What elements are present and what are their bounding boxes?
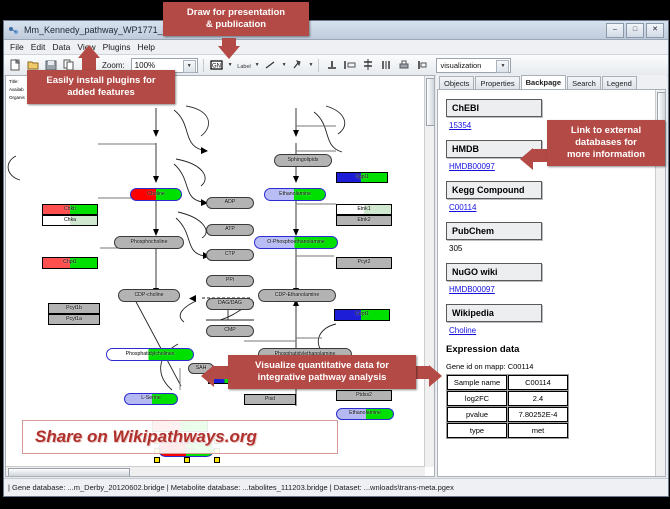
pathway-gene-chpt1[interactable]: Chpt1 xyxy=(42,257,98,269)
align-left-icon[interactable] xyxy=(342,58,357,73)
wikipedia-link[interactable]: Choline xyxy=(449,326,656,335)
pathway-node-sphingolipids[interactable]: Sphingolipids xyxy=(274,154,332,167)
toolbar-separator xyxy=(203,59,204,72)
chevron-down-icon[interactable]: ▼ xyxy=(183,60,196,73)
pathway-node-adp[interactable]: ADP xyxy=(206,197,254,209)
pathway-node-ctp[interactable]: CTP xyxy=(206,249,254,261)
pathway-node-label: ADP xyxy=(225,200,236,205)
status-bar: | Gene database: ...m_Derby_20120602.bri… xyxy=(4,478,668,496)
nugo-wiki-link[interactable]: HMDB00097 xyxy=(449,285,656,294)
callout-links: Link to externaldatabases formore inform… xyxy=(547,120,665,166)
pathway-gene-label: Sgpl1 xyxy=(355,175,368,180)
pathway-node-label: CDP-choline xyxy=(134,293,163,298)
order-icon[interactable] xyxy=(414,58,429,73)
visualization-chevron-down-icon[interactable]: ▼ xyxy=(496,60,509,73)
app-icon xyxy=(8,25,19,36)
pathway-gene-label: Pisd xyxy=(265,397,275,402)
pubchem-header: PubChem xyxy=(446,222,542,240)
line-icon[interactable] xyxy=(263,58,278,73)
status-bar-text: | Gene database: ...m_Derby_20120602.bri… xyxy=(4,483,454,492)
expression-row-value: 2.4 xyxy=(508,391,568,406)
datanode-dropdown-icon[interactable]: ▼ xyxy=(228,62,233,68)
pathway-gene-pisd[interactable]: Pisd xyxy=(244,394,296,405)
pathway-gene-chka[interactable]: Chka xyxy=(42,215,98,226)
menu-file[interactable]: File xyxy=(10,42,24,52)
pathway-canvas[interactable]: Title: Availab Organis xyxy=(5,75,435,477)
share-banner-text: Share on Wikipathways.org xyxy=(35,427,257,446)
selection-handle[interactable] xyxy=(184,457,190,463)
callout-draw: Draw for presentation& publication xyxy=(163,2,309,36)
pathway-gene-label: Chpt1 xyxy=(63,260,77,265)
expression-row-label: pvalue xyxy=(447,407,507,422)
side-panel-tabs: Objects Properties Backpage Search Legen… xyxy=(436,75,667,89)
pathway-gene-label: Ptdss2 xyxy=(356,393,372,398)
callout-plugins-arrow-head xyxy=(78,45,100,58)
callout-links-text: Link to externaldatabases formore inform… xyxy=(567,125,645,160)
pathway-node-label: DAG/DAG xyxy=(218,301,242,306)
new-icon[interactable] xyxy=(7,58,22,73)
label-dropdown-icon[interactable]: ▼ xyxy=(255,62,260,68)
pathway-gene-label: Etnk2 xyxy=(357,218,370,223)
nugo-wiki-header: NuGO wiki xyxy=(446,263,542,281)
expression-row-label: type xyxy=(447,423,507,438)
maximize-button[interactable]: □ xyxy=(626,23,644,38)
callout-visualize: Visualize quantitative data forintegrati… xyxy=(228,355,416,389)
expression-data-table: Sample nameC00114log2FC2.4pvalue7.80252E… xyxy=(446,374,569,439)
table-row: Sample nameC00114 xyxy=(447,375,568,390)
table-row: pvalue7.80252E-4 xyxy=(447,407,568,422)
selection-handle[interactable] xyxy=(214,457,220,463)
callout-draw-text: Draw for presentation& publication xyxy=(187,7,285,30)
pathway-gene-label: Pcyt1b xyxy=(66,306,82,311)
pathway-node-phosphatidylcholines[interactable]: Phosphatidylcholines xyxy=(106,348,194,361)
pathway-node-label: CMP xyxy=(224,328,236,333)
pathway-node-label: PPi xyxy=(226,278,234,283)
pathway-node-label: Sphingolipids xyxy=(288,158,319,163)
tab-legend[interactable]: Legend xyxy=(602,76,637,89)
pathway-node-label: Ethanolamine xyxy=(279,192,311,197)
pathway-gene-chkb[interactable]: Chkb xyxy=(42,204,98,215)
expression-row-value: met xyxy=(508,423,568,438)
label-icon[interactable]: Label xyxy=(236,58,251,73)
callout-visualize-arrow-stem-right xyxy=(414,366,430,379)
pathway-node-ppi[interactable]: PPi xyxy=(206,275,254,287)
kegg-compound-link[interactable]: C00114 xyxy=(449,203,656,212)
callout-plugins: Easily install plugins foradded features xyxy=(27,70,175,104)
pathway-node-cdp_choline[interactable]: CDP-choline xyxy=(118,289,180,302)
pathway-gene-pcyt2[interactable]: Pcyt2 xyxy=(336,257,392,269)
chebi-header: ChEBI xyxy=(446,99,542,117)
canvas-vertical-scroll-thumb[interactable] xyxy=(426,78,435,126)
pathway-gene-etnk2[interactable]: Etnk2 xyxy=(336,215,392,226)
callout-draw-arrow-head xyxy=(218,46,240,59)
pathway-node-label: O-Phosphoethanolamine xyxy=(267,240,324,245)
stack-icon[interactable] xyxy=(360,58,375,73)
pathway-node-cmp[interactable]: CMP xyxy=(206,325,254,337)
svg-text:GN: GN xyxy=(212,64,221,70)
tab-objects[interactable]: Objects xyxy=(439,76,474,89)
callout-links-arrow-head xyxy=(520,148,533,170)
expression-row-value: 7.80252E-4 xyxy=(508,407,568,422)
pathway-node-ethanolamine[interactable]: Ethanolamine xyxy=(264,188,326,201)
pathway-gene-label: Chka xyxy=(64,218,76,223)
pathway-gene-pcyt1a[interactable]: Pcyt1a xyxy=(48,314,100,325)
tab-search[interactable]: Search xyxy=(567,76,601,89)
selection-handle[interactable] xyxy=(154,457,160,463)
pathway-drawing-area[interactable]: Title: Availab Organis xyxy=(6,76,434,476)
close-button[interactable]: ✕ xyxy=(646,23,664,38)
table-row: typemet xyxy=(447,423,568,438)
pathway-node-lserine_left[interactable]: L-Serine xyxy=(124,393,178,405)
gene-id-line: Gene id on mapp: C00114 xyxy=(446,362,656,371)
tab-properties[interactable]: Properties xyxy=(475,76,519,89)
pathway-gene-label: Chkb xyxy=(64,207,76,212)
print-icon[interactable] xyxy=(396,58,411,73)
window-controls: – □ ✕ xyxy=(606,23,664,38)
pathway-gene-label: Pcyt1a xyxy=(66,317,82,322)
kegg-compound-header: Kegg Compound xyxy=(446,181,542,199)
menu-edit[interactable]: Edit xyxy=(31,42,46,52)
pathway-gene-ptdss2[interactable]: Ptdss2 xyxy=(336,390,392,401)
pathway-node-dagdag[interactable]: DAG/DAG xyxy=(206,298,254,310)
pathway-node-label: Phosphocholine xyxy=(131,240,168,245)
menu-data[interactable]: Data xyxy=(52,42,70,52)
share-banner: Share on Wikipathways.org xyxy=(22,420,338,454)
pathway-node-phosphocholine[interactable]: Phosphocholine xyxy=(114,236,184,249)
pathway-gene-cept1[interactable]: Cept1 xyxy=(334,309,390,321)
canvas-vertical-scrollbar[interactable] xyxy=(424,76,434,467)
receptor-icon[interactable] xyxy=(290,58,305,73)
callout-plugins-text: Easily install plugins foradded features xyxy=(46,75,155,98)
menu-help[interactable]: Help xyxy=(138,42,155,52)
pathway-node-label: Phosphatidylcholines xyxy=(126,352,175,357)
title-bar: Mm_Kennedy_pathway_WP1771_45176.gpml – □… xyxy=(4,21,668,40)
pathway-node-label: L-Serine xyxy=(141,396,161,401)
tab-backpage[interactable]: Backpage xyxy=(521,75,566,89)
visualization-combobox[interactable]: visualization ▼ xyxy=(436,58,511,73)
pathway-node-atp[interactable]: ATP xyxy=(206,224,254,236)
menu-plugins[interactable]: Plugins xyxy=(103,42,131,52)
zoom-value: 100% xyxy=(135,61,155,70)
canvas-horizontal-scroll-thumb[interactable] xyxy=(8,468,130,477)
toolbar-separator-2 xyxy=(318,59,319,72)
pathway-node-label: Choline xyxy=(147,192,165,197)
expression-row-value: C00114 xyxy=(508,375,568,390)
wikipedia-header: Wikipedia xyxy=(446,304,542,322)
pathway-gene-label: Cept1 xyxy=(355,312,369,317)
svg-text:Label: Label xyxy=(237,64,250,70)
pathway-node-label: ATP xyxy=(225,227,235,232)
visualization-value: visualization xyxy=(440,61,481,70)
datanode-icon[interactable]: GN xyxy=(209,58,224,73)
callout-visualize-arrow-head xyxy=(201,365,214,387)
pathway-node-ophosphoethanolamine[interactable]: O-Phosphoethanolamine xyxy=(254,236,338,249)
screenshot-root: Mm_Kennedy_pathway_WP1771_45176.gpml – □… xyxy=(0,0,670,509)
callout-visualize-text: Visualize quantitative data forintegrati… xyxy=(255,360,389,383)
menu-bar: File Edit Data View Plugins Help xyxy=(4,40,668,55)
receptor-dropdown-icon[interactable]: ▼ xyxy=(309,62,314,68)
align-bottom-icon[interactable] xyxy=(324,58,339,73)
pathway-gene-pcyt1b[interactable]: Pcyt1b xyxy=(48,303,100,314)
line-dropdown-icon[interactable]: ▼ xyxy=(282,62,287,68)
expression-data-heading: Expression data xyxy=(446,344,656,355)
distribute-icon[interactable] xyxy=(378,58,393,73)
table-row: log2FC2.4 xyxy=(447,391,568,406)
minimize-button[interactable]: – xyxy=(606,23,624,38)
pathway-node-choline_top[interactable]: Choline xyxy=(130,188,182,201)
pathway-node-ethanolamine_r[interactable]: Ethanolamine xyxy=(336,408,394,420)
zoom-label: Zoom: xyxy=(102,61,125,70)
pathway-node-cdp_ethanolamine[interactable]: CDP-Ethanolamine xyxy=(258,289,336,302)
canvas-horizontal-scrollbar[interactable] xyxy=(6,466,425,476)
pathway-node-label: Ethanolamine xyxy=(349,411,381,416)
expression-row-label: log2FC xyxy=(447,391,507,406)
pathway-gene-sgpl1[interactable]: Sgpl1 xyxy=(336,172,388,183)
callout-visualize-arrow-head-right xyxy=(429,365,442,387)
pathway-node-label: CDP-Ethanolamine xyxy=(275,293,319,298)
expression-row-label: Sample name xyxy=(447,375,507,390)
pathway-gene-label: Pcyt2 xyxy=(358,260,371,265)
pathway-gene-label: Etnk1 xyxy=(357,207,370,212)
pathway-node-label: CTP xyxy=(225,252,235,257)
pubchem-value: 305 xyxy=(449,244,656,253)
pathway-gene-etnk1[interactable]: Etnk1 xyxy=(336,204,392,215)
